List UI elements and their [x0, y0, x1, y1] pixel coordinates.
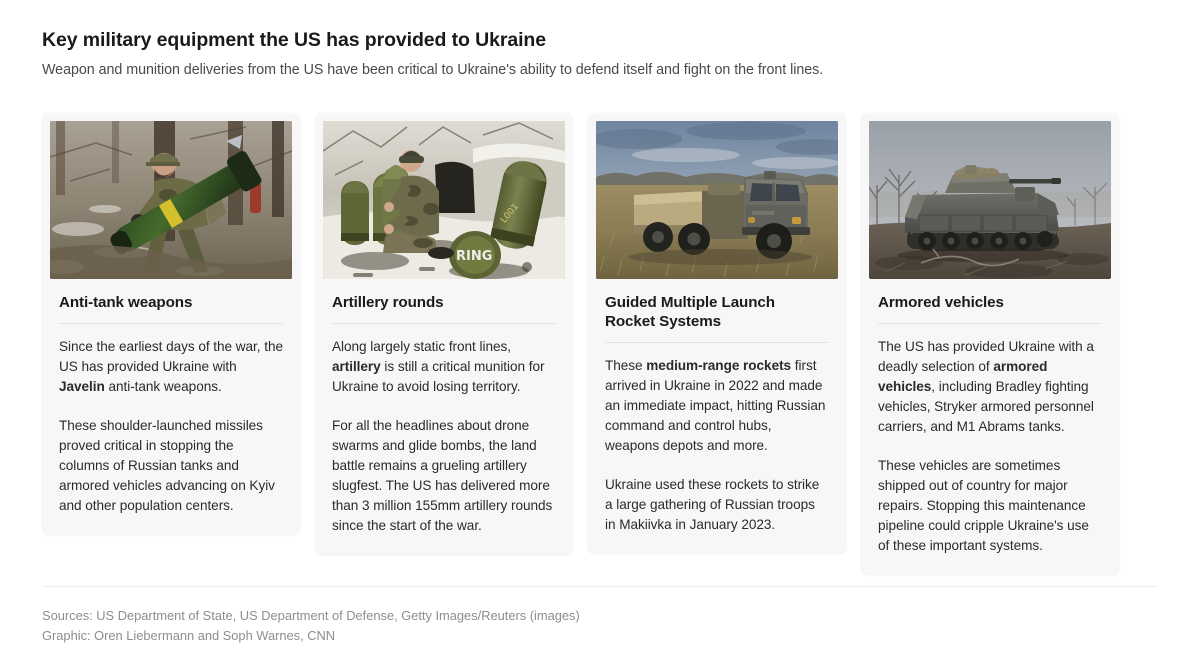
paragraph-text: Since the earliest days of the war, the … [59, 339, 283, 374]
card-paragraph-2: These shoulder-launched missiles proved … [59, 416, 283, 516]
svg-text:RING: RING [456, 249, 492, 264]
card-title: Artillery rounds [332, 293, 556, 324]
page-subtitle: Weapon and munition deliveries from the … [42, 60, 1160, 81]
paragraph-text: These [605, 358, 646, 373]
himars-rocket-launcher-vehicle-photo [596, 121, 838, 279]
equipment-card-guided-multiple-launch-rocket-systems: Guided Multiple Launch Rocket Systems Th… [588, 113, 846, 553]
header: Key military equipment the US has provid… [0, 0, 1200, 81]
card-paragraph-1: The US has provided Ukraine with a deadl… [878, 337, 1102, 437]
paragraph-text: Along largely static front lines, [332, 339, 511, 354]
equipment-card-anti-tank-weapons: Anti-tank weapons Since the earliest day… [42, 113, 300, 534]
card-title: Armored vehicles [878, 293, 1102, 324]
infographic-page: Key military equipment the US has provid… [0, 0, 1200, 667]
soldier-with-artillery-shells-in-snow-photo: L001 RING [323, 121, 565, 279]
equipment-card-grid: Anti-tank weapons Since the earliest day… [42, 113, 1158, 574]
card-body: Guided Multiple Launch Rocket Systems Th… [596, 293, 838, 535]
card-title: Guided Multiple Launch Rocket Systems [605, 293, 829, 343]
equipment-card-armored-vehicles: Armored vehicles The US has provided Ukr… [861, 113, 1119, 574]
paragraph-emphasis: medium-range rockets [646, 358, 791, 373]
soldier-carrying-javelin-launcher-photo [50, 121, 292, 279]
sources-line: Sources: US Department of State, US Depa… [42, 606, 1042, 626]
graphic-credit-line: Graphic: Oren Liebermann and Soph Warnes… [42, 626, 1042, 646]
footer-divider [42, 586, 1158, 587]
equipment-card-artillery-rounds: L001 RING [315, 113, 573, 554]
card-title: Anti-tank weapons [59, 293, 283, 324]
card-body: Artillery rounds Along largely static fr… [323, 293, 565, 536]
card-paragraph-1: Along largely static front lines, artill… [332, 337, 556, 397]
card-body: Armored vehicles The US has provided Ukr… [869, 293, 1111, 556]
paragraph-text: anti-tank weapons. [105, 379, 222, 394]
card-body: Anti-tank weapons Since the earliest day… [50, 293, 292, 516]
footer: Sources: US Department of State, US Depa… [42, 606, 1042, 646]
paragraph-emphasis: artillery [332, 359, 381, 374]
card-paragraph-1: These medium-range rockets first arrived… [605, 356, 829, 456]
paragraph-text: The US has provided Ukraine with a deadl… [878, 339, 1094, 374]
card-paragraph-1: Since the earliest days of the war, the … [59, 337, 283, 397]
page-title: Key military equipment the US has provid… [42, 28, 1160, 53]
card-paragraph-2: Ukraine used these rockets to strike a l… [605, 475, 829, 535]
card-paragraph-2: For all the headlines about drone swarms… [332, 416, 556, 536]
card-paragraph-2: These vehicles are sometimes shipped out… [878, 456, 1102, 556]
paragraph-emphasis: Javelin [59, 379, 105, 394]
bradley-fighting-vehicle-photo [869, 121, 1111, 279]
